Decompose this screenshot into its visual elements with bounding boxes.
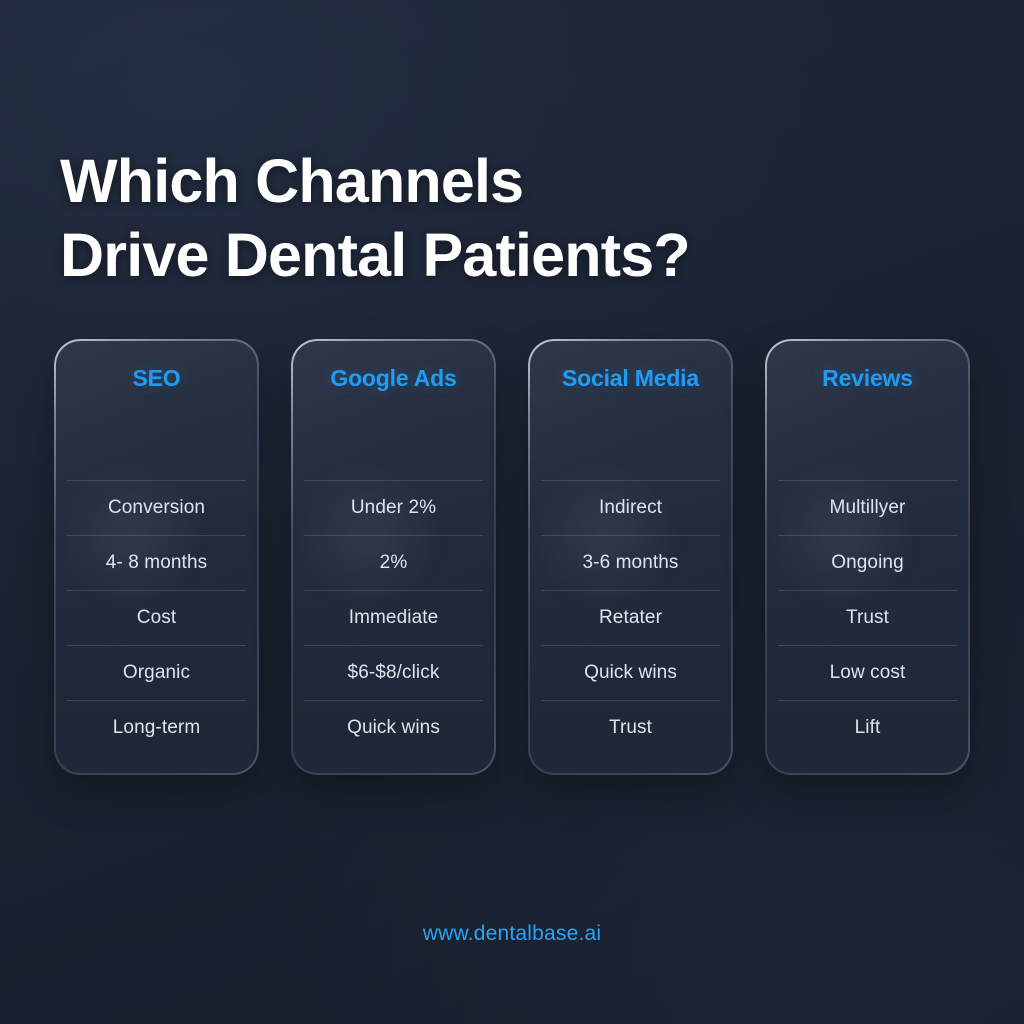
page-title: Which Channels Drive Dental Patients? [60, 144, 920, 292]
channel-card-title: Social Media [538, 365, 723, 392]
list-item: Organic [67, 645, 246, 700]
channel-card-google-ads[interactable]: Google Ads Under 2% 2% Immediate $6-$8/c… [291, 339, 496, 775]
list-item: Trust [541, 700, 720, 755]
list-item: Immediate [304, 590, 483, 645]
channel-card-title: Reviews [775, 365, 960, 392]
list-item: Under 2% [304, 480, 483, 535]
list-item: Retater [541, 590, 720, 645]
list-item: 4- 8 months [67, 535, 246, 590]
channel-attribute-list: Under 2% 2% Immediate $6-$8/click Quick … [291, 480, 496, 755]
list-item: Lift [778, 700, 957, 755]
list-item: $6-$8/click [304, 645, 483, 700]
list-item: 2% [304, 535, 483, 590]
list-item: Conversion [67, 480, 246, 535]
channel-card-social-media[interactable]: Social Media Indirect 3-6 months Retater… [528, 339, 733, 775]
list-item: Quick wins [541, 645, 720, 700]
channel-card-title: Google Ads [301, 365, 486, 392]
list-item: Indirect [541, 480, 720, 535]
channel-card-row: SEO Conversion 4- 8 months Cost Organic … [54, 339, 970, 775]
channel-attribute-list: Conversion 4- 8 months Cost Organic Long… [54, 480, 259, 755]
list-item: Low cost [778, 645, 957, 700]
poster-canvas: Which Channels Drive Dental Patients? SE… [0, 0, 1024, 1024]
list-item: 3-6 months [541, 535, 720, 590]
list-item: Long-term [67, 700, 246, 755]
channel-attribute-list: Indirect 3-6 months Retater Quick wins T… [528, 480, 733, 755]
page-title-line-2: Drive Dental Patients? [60, 218, 920, 292]
list-item: Quick wins [304, 700, 483, 755]
channel-card-title: SEO [64, 365, 249, 392]
channel-attribute-list: Multillyer Ongoing Trust Low cost Lift [765, 480, 970, 755]
page-title-line-1: Which Channels [60, 144, 920, 218]
channel-card-reviews[interactable]: Reviews Multillyer Ongoing Trust Low cos… [765, 339, 970, 775]
list-item: Multillyer [778, 480, 957, 535]
list-item: Trust [778, 590, 957, 645]
list-item: Ongoing [778, 535, 957, 590]
channel-card-seo[interactable]: SEO Conversion 4- 8 months Cost Organic … [54, 339, 259, 775]
list-item: Cost [67, 590, 246, 645]
footer-website-link[interactable]: www.dentalbase.ai [0, 922, 1024, 946]
